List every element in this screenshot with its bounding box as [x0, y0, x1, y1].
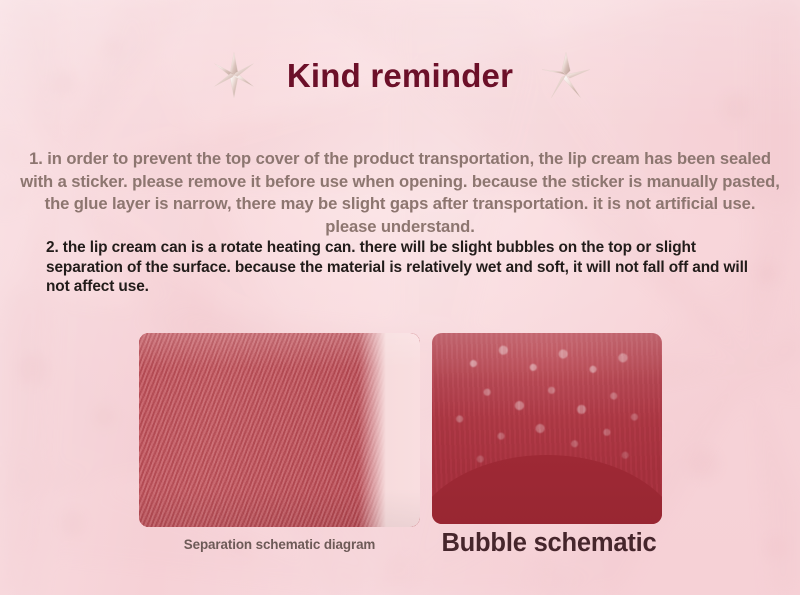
caption-bubble: Bubble schematic: [432, 529, 666, 558]
bubble-photo-image: [432, 333, 662, 524]
figure-bubble: [432, 333, 662, 524]
figure-group: [0, 0, 800, 595]
figure-separation: [139, 333, 420, 527]
bubble-photo: [432, 333, 662, 524]
separation-photo: [139, 333, 420, 527]
caption-separation: Separation schematic diagram: [139, 537, 420, 552]
separation-photo-image: [139, 333, 420, 527]
kind-reminder-page: Kind reminder 1. in order to prevent the…: [0, 0, 800, 595]
